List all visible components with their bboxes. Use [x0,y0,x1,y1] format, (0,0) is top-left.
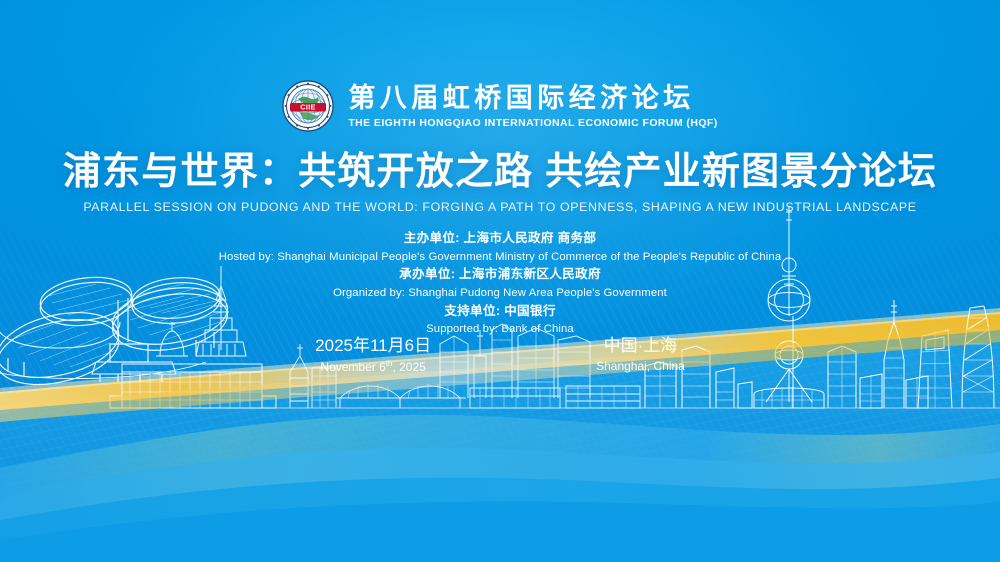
host-cn: 主办单位: 上海市人民政府 商务部 [0,229,1000,249]
page-title-en: PARALLEL SESSION ON PUDONG AND THE WORLD… [0,200,1000,214]
supporter-cn: 支持单位: 中国银行 [0,302,1000,322]
forum-name-en: THE EIGHTH HONGQIAO INTERNATIONAL ECONOM… [348,117,717,129]
event-date-cn: 2025年11月6日 [315,335,431,357]
organizers-block: 主办单位: 上海市人民政府 商务部 Hosted by: Shanghai Mu… [0,229,1000,338]
host-en: Hosted by: Shanghai Municipal People's G… [0,249,1000,266]
event-location: 中国·上海 Shanghai, China [596,335,685,376]
event-location-cn: 中国·上海 [596,335,685,357]
forum-banner-poster: CIIE 第八届虹桥国际经济论坛 THE EIGHTH HONGQIAO INT… [0,0,1000,562]
event-date-en: November 6th, 2025 [315,358,431,376]
svg-text:CIIE: CIIE [301,103,317,112]
event-date-en-prefix: November 6 [320,360,385,374]
event-date: 2025年11月6日 November 6th, 2025 [315,335,431,376]
forum-logo-row: CIIE 第八届虹桥国际经济论坛 THE EIGHTH HONGQIAO INT… [0,80,1000,132]
organizer-en: Organized by: Shanghai Pudong New Area P… [0,285,1000,302]
organizer-cn: 承办单位: 上海市浦东新区人民政府 [0,265,1000,285]
ciie-globe-emblem-icon: CIIE [282,80,334,132]
forum-name-cn: 第八届虹桥国际经济论坛 [348,83,695,114]
event-meta: 2025年11月6日 November 6th, 2025 中国·上海 Shan… [0,335,1000,376]
event-location-en: Shanghai, China [596,358,685,375]
page-title-cn: 浦东与世界：共筑开放之路 共绘产业新图景分论坛 [0,150,1000,195]
event-date-en-suffix: , 2025 [392,360,425,374]
forum-brand-text: 第八届虹桥国际经济论坛 THE EIGHTH HONGQIAO INTERNAT… [348,83,717,129]
